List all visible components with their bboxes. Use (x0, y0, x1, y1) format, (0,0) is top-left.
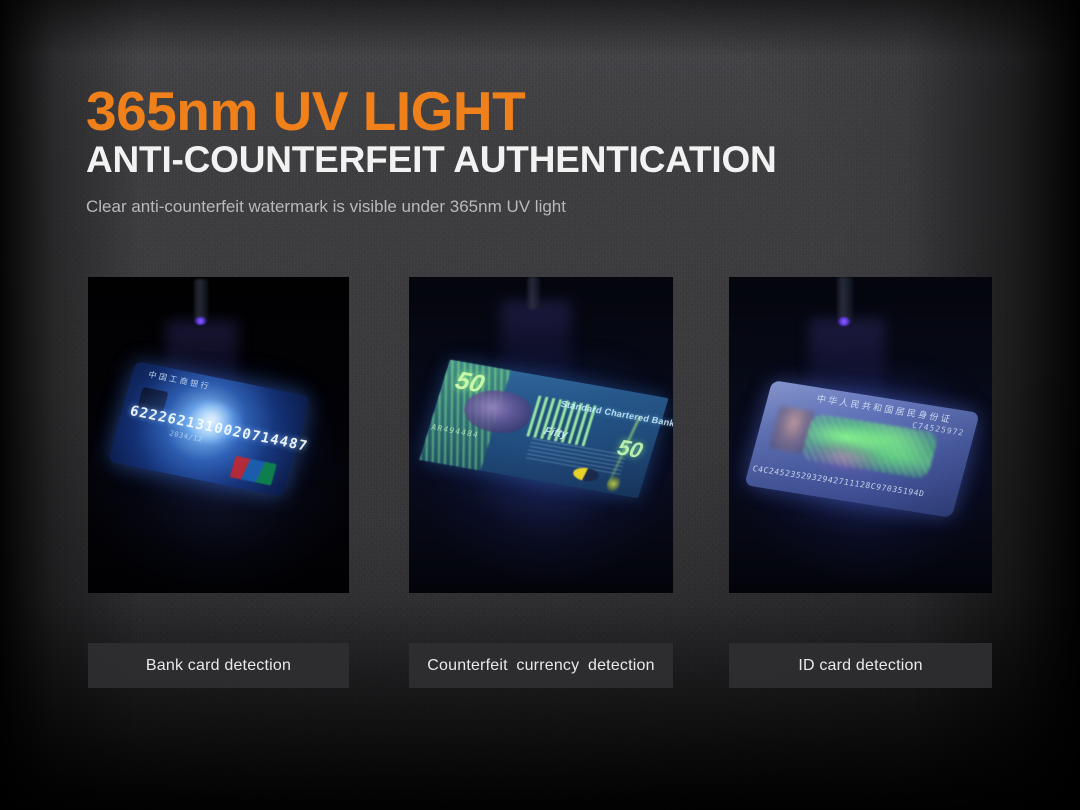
slide-content: 365nm UV LIGHT ANTI-COUNTERFEIT AUTHENTI… (0, 0, 1080, 810)
denomination-right: 50 (614, 435, 646, 464)
unionpay-logo-icon (230, 456, 277, 486)
uv-led-icon (194, 317, 207, 325)
caption-bank-card: Bank card detection (88, 643, 349, 688)
caption-id-card: ID card detection (729, 643, 992, 688)
uv-flashlight-icon (527, 277, 540, 309)
id-card-scene: 中华人民共和国居民身份证 C74525972 C4C24523529329427… (729, 277, 992, 593)
description-text: Clear anti-counterfeit watermark is visi… (86, 198, 566, 215)
photo-panel-counterfeit-currency: 50 50 Standard Chartered Bank Fifty AR49… (409, 277, 673, 593)
photo-panel-bank-card: 中国工商银行 6222621310020714487 2034/12 (88, 277, 349, 593)
security-patch-leaf-icon (605, 475, 622, 492)
uv-led-icon (837, 317, 851, 326)
bank-card-scene: 中国工商银行 6222621310020714487 2034/12 (88, 277, 349, 593)
banknote-scene: 50 50 Standard Chartered Bank Fifty AR49… (409, 277, 673, 593)
headline-uv-light: 365nm UV LIGHT (86, 84, 525, 139)
photo-panel-id-card: 中华人民共和国居民身份证 C74525972 C4C24523529329427… (729, 277, 992, 593)
headline-anti-counterfeit: ANTI-COUNTERFEIT AUTHENTICATION (86, 141, 777, 178)
caption-counterfeit-currency: Counterfeit currency detection (409, 643, 673, 688)
